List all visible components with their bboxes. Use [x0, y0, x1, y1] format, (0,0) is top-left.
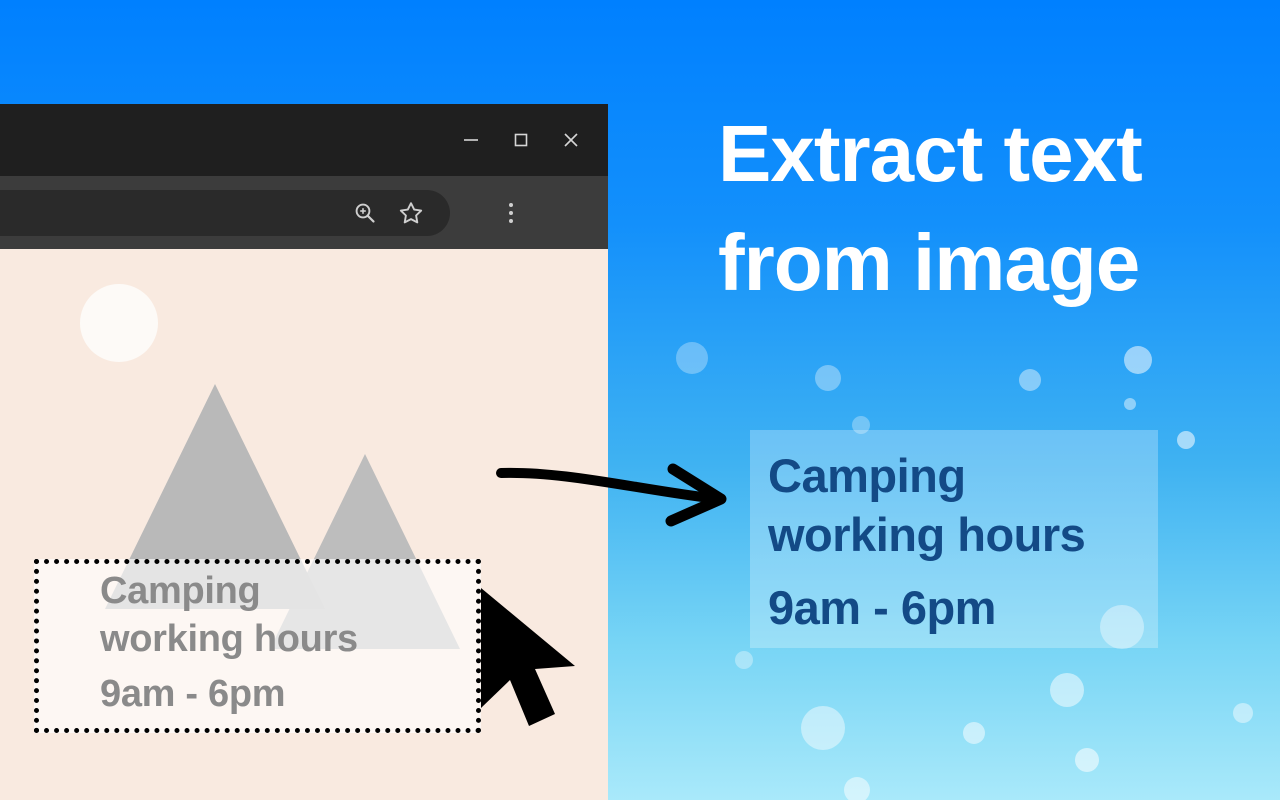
- browser-toolbar: [0, 176, 608, 249]
- bubble-shape: [1019, 369, 1041, 391]
- headline-line-1: Extract text: [718, 100, 1258, 209]
- bubble-shape: [676, 342, 708, 374]
- bubble-shape: [1177, 431, 1195, 449]
- selected-source-text: Camping working hours 9am - 6pm: [100, 567, 520, 718]
- callout-arrow-icon: [495, 455, 745, 535]
- bubble-shape: [815, 365, 841, 391]
- extracted-text-line-3: 9am - 6pm: [768, 578, 1168, 637]
- poster-canvas: Extract text from image Camping working …: [0, 0, 1280, 800]
- bubble-shape: [1075, 748, 1099, 772]
- bubble-shape: [735, 651, 753, 669]
- window-title-bar: [0, 104, 608, 176]
- extracted-text: Camping working hours 9am - 6pm: [768, 446, 1168, 638]
- mouse-pointer-icon: [463, 572, 583, 732]
- selected-text-line-2: working hours: [100, 615, 520, 663]
- bubble-shape: [1124, 398, 1136, 410]
- extracted-text-line-2: working hours: [768, 505, 1168, 564]
- menu-icon[interactable]: [496, 198, 526, 228]
- maximize-button[interactable]: [496, 104, 546, 176]
- menu-dot: [509, 219, 513, 223]
- bubble-shape: [1050, 673, 1084, 707]
- page-title: Extract text from image: [718, 100, 1258, 318]
- extracted-text-line-1: Camping: [768, 446, 1168, 505]
- address-bar[interactable]: [0, 190, 450, 236]
- sun-icon: [80, 284, 158, 362]
- zoom-icon[interactable]: [352, 200, 378, 226]
- bubble-shape: [844, 777, 870, 800]
- selected-text-line-1: Camping: [100, 567, 520, 615]
- bubble-shape: [801, 706, 845, 750]
- close-button[interactable]: [546, 104, 596, 176]
- bubble-shape: [963, 722, 985, 744]
- bubble-shape: [1124, 346, 1152, 374]
- bubble-shape: [1233, 703, 1253, 723]
- window-controls: [446, 104, 596, 176]
- bookmark-star-icon[interactable]: [398, 200, 424, 226]
- headline-line-2: from image: [718, 209, 1258, 318]
- selected-text-line-3: 9am - 6pm: [100, 670, 520, 718]
- minimize-button[interactable]: [446, 104, 496, 176]
- menu-dot: [509, 203, 513, 207]
- menu-dot: [509, 211, 513, 215]
